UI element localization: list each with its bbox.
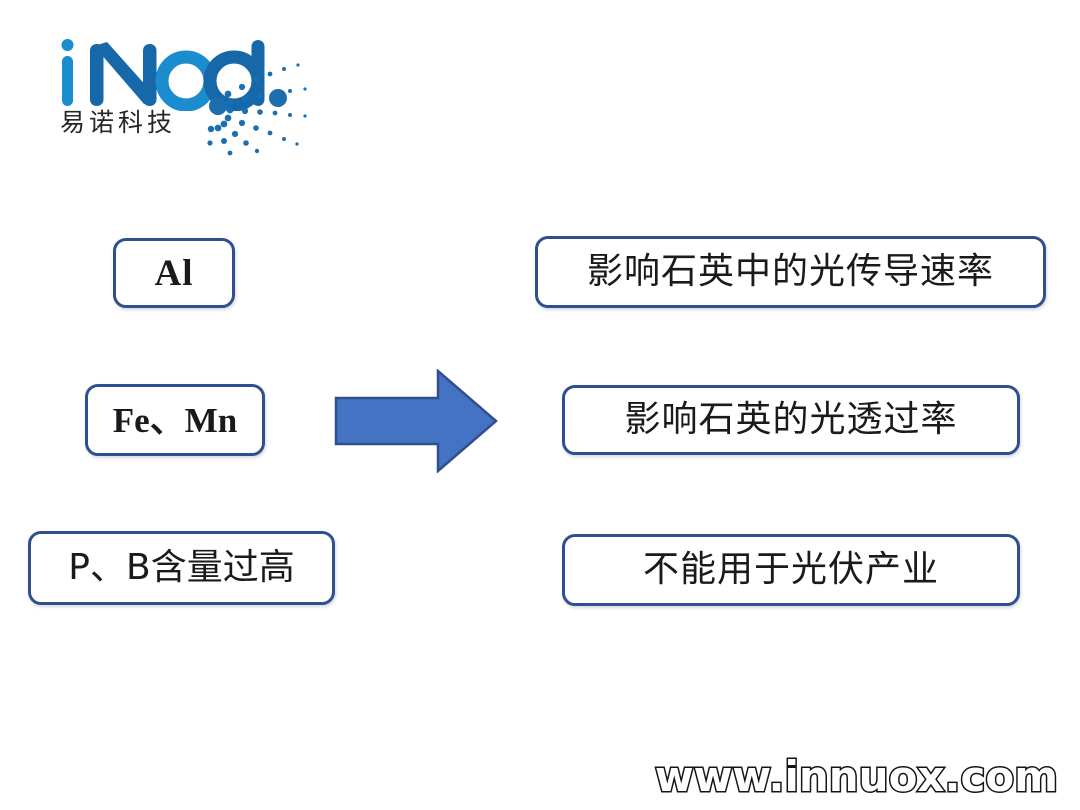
logo-chinese-name: 易诺科技 [60,110,215,135]
website-watermark: www.innuox.com [0,752,1058,801]
cause-label-fe-mn: Fe、Mn [113,403,237,438]
effect-box-light-speed[interactable]: 影响石英中的光传导速率 [535,236,1046,308]
slide-canvas: 易诺科技 Al Fe、Mn P、B含量过高 影响石英中的光传导速率 影响石英的光… [0,0,1080,810]
effect-label-transmittance: 影响石英的光透过率 [624,402,957,438]
dot-burst-icon [206,54,314,158]
cause-box-fe-mn[interactable]: Fe、Mn [85,384,265,456]
cause-box-p-b[interactable]: P、B含量过高 [28,531,335,605]
effect-label-light-speed: 影响石英中的光传导速率 [587,254,994,290]
cause-label-p-b: P、B含量过高 [68,550,294,586]
company-logo: 易诺科技 [58,36,308,154]
cause-box-al[interactable]: Al [113,238,235,308]
effect-label-photovoltaic: 不能用于光伏产业 [643,552,939,588]
effect-box-photovoltaic[interactable]: 不能用于光伏产业 [562,534,1020,606]
right-arrow-icon [334,369,498,473]
effect-box-transmittance[interactable]: 影响石英的光透过率 [562,385,1020,455]
cause-label-al: Al [155,255,194,292]
